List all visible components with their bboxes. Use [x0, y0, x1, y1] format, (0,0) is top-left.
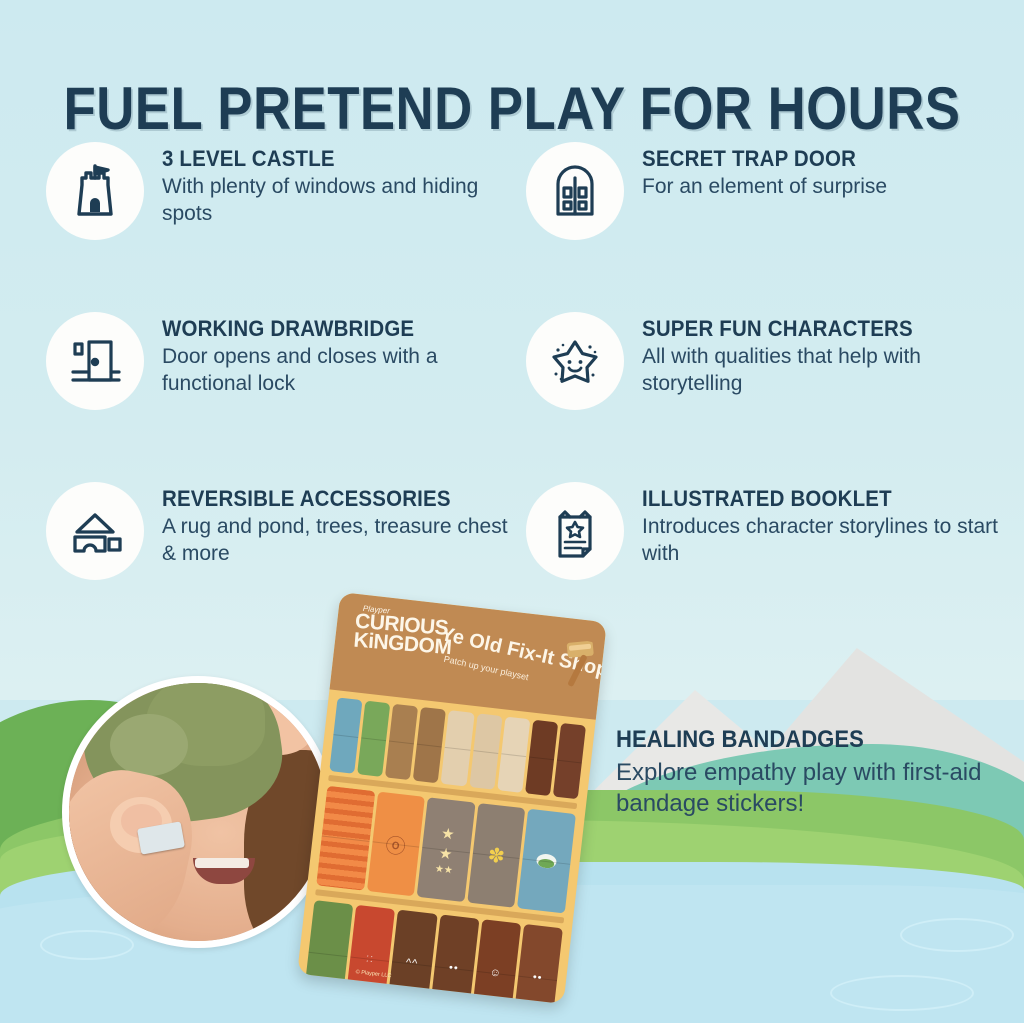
feature-description: With plenty of windows and hiding spots: [162, 174, 522, 228]
illustrated-booklet-icon: [526, 482, 624, 580]
feature-text: ILLUSTRATED BOOKLET Introduces character…: [642, 470, 1002, 568]
sticker-bandage-pond: [517, 809, 576, 914]
brand-logo-line2: KiNGDOM: [353, 631, 452, 658]
feature-item-castle: 3 LEVEL CASTLE With plenty of windows an…: [46, 130, 526, 300]
mallet-icon: [549, 635, 603, 695]
smiling-star-icon: [526, 312, 624, 410]
brand-logo: CURIOUS KiNGDOM: [353, 612, 454, 658]
sticker-bandage-striped: [316, 786, 375, 891]
infographic-page: FUEL PRETEND PLAY FOR HOURS 3 LEVEL CAST…: [0, 0, 1024, 1023]
star-icon: ★★: [434, 863, 453, 876]
sticker-bandage-face: ☺: [470, 919, 521, 1004]
feature-text: WORKING DRAWBRIDGE Door opens and closes…: [162, 300, 522, 398]
sticker-bandage: [469, 713, 502, 789]
sticker-bandage-logo: ⓞ: [367, 792, 426, 897]
trap-door-icon: [526, 142, 624, 240]
sticker-bandage-stars: ★ ★ ★★: [417, 797, 476, 902]
healing-bandages-callout: HEALING BANDADGES Explore empathy play w…: [616, 726, 1016, 819]
face-neutral: ••: [512, 924, 563, 1004]
feature-description: A rug and pond, trees, treasure chest & …: [162, 514, 522, 568]
feature-text: SECRET TRAP DOOR For an element of surpr…: [642, 130, 887, 201]
feature-title: WORKING DRAWBRIDGE: [162, 316, 497, 342]
feature-item-characters: SUPER FUN CHARACTERS All with qualities …: [526, 300, 1006, 470]
child-photo: [62, 676, 334, 948]
feature-text: REVERSIBLE ACCESSORIES A rug and pond, t…: [162, 470, 522, 568]
sticker-bandage: [441, 710, 474, 786]
star-icon: ★: [438, 843, 453, 862]
callout-title: HEALING BANDADGES: [616, 726, 984, 754]
feature-description: Door opens and closes with a functional …: [162, 344, 522, 398]
sticker-bandage-flower: ✽: [467, 803, 526, 908]
sticker-bandage: [553, 723, 586, 799]
sticker-bandage: [497, 717, 530, 793]
feature-item-drawbridge: WORKING DRAWBRIDGE Door opens and closes…: [46, 300, 526, 470]
dinosaur-highlight: [110, 714, 187, 776]
sticker-bandage-face: ••: [512, 924, 563, 1004]
child-teeth: [195, 858, 249, 868]
stripe-pattern: [316, 786, 375, 891]
face-smile: ☺: [470, 919, 521, 1004]
feature-description: Introduces character storylines to start…: [642, 514, 1002, 568]
feature-title: 3 LEVEL CASTLE: [162, 146, 497, 172]
feature-title: SECRET TRAP DOOR: [642, 146, 870, 172]
castle-icon: [46, 142, 144, 240]
water-ripple: [900, 918, 1014, 952]
photo-content: [69, 683, 327, 941]
sticker-sheet-card: Playper CURIOUS KiNGDOM Ye Old Fix-It Sh…: [297, 592, 607, 1004]
feature-text: 3 LEVEL CASTLE With plenty of windows an…: [162, 130, 522, 228]
feature-description: For an element of surprise: [642, 174, 887, 201]
feature-text: SUPER FUN CHARACTERS All with qualities …: [642, 300, 1002, 398]
feature-list: 3 LEVEL CASTLE With plenty of windows an…: [46, 130, 1006, 640]
playper-logo-mark: ⓞ: [367, 792, 426, 897]
star-icon: ★: [440, 824, 455, 843]
water-ripple: [830, 975, 974, 1011]
feature-description: All with qualities that help with storyt…: [642, 344, 1002, 398]
callout-description: Explore empathy play with first-aid band…: [616, 757, 1016, 819]
feature-title: SUPER FUN CHARACTERS: [642, 316, 977, 342]
feature-item-trap-door: SECRET TRAP DOOR For an element of surpr…: [526, 130, 1006, 300]
feature-item-booklet: ILLUSTRATED BOOKLET Introduces character…: [526, 470, 1006, 640]
sticker-sheet: Playper CURIOUS KiNGDOM Ye Old Fix-It Sh…: [297, 592, 607, 1004]
pond-icon: [517, 809, 576, 914]
building-blocks-icon: [46, 482, 144, 580]
flower-icon: ✽: [467, 803, 526, 908]
sticker-grid: ⓞ ★ ★ ★★ ✽: [297, 689, 596, 1004]
drawbridge-door-icon: [46, 312, 144, 410]
feature-title: ILLUSTRATED BOOKLET: [642, 486, 977, 512]
feature-title: REVERSIBLE ACCESSORIES: [162, 486, 497, 512]
star-decoration: ★ ★ ★★: [417, 797, 476, 902]
